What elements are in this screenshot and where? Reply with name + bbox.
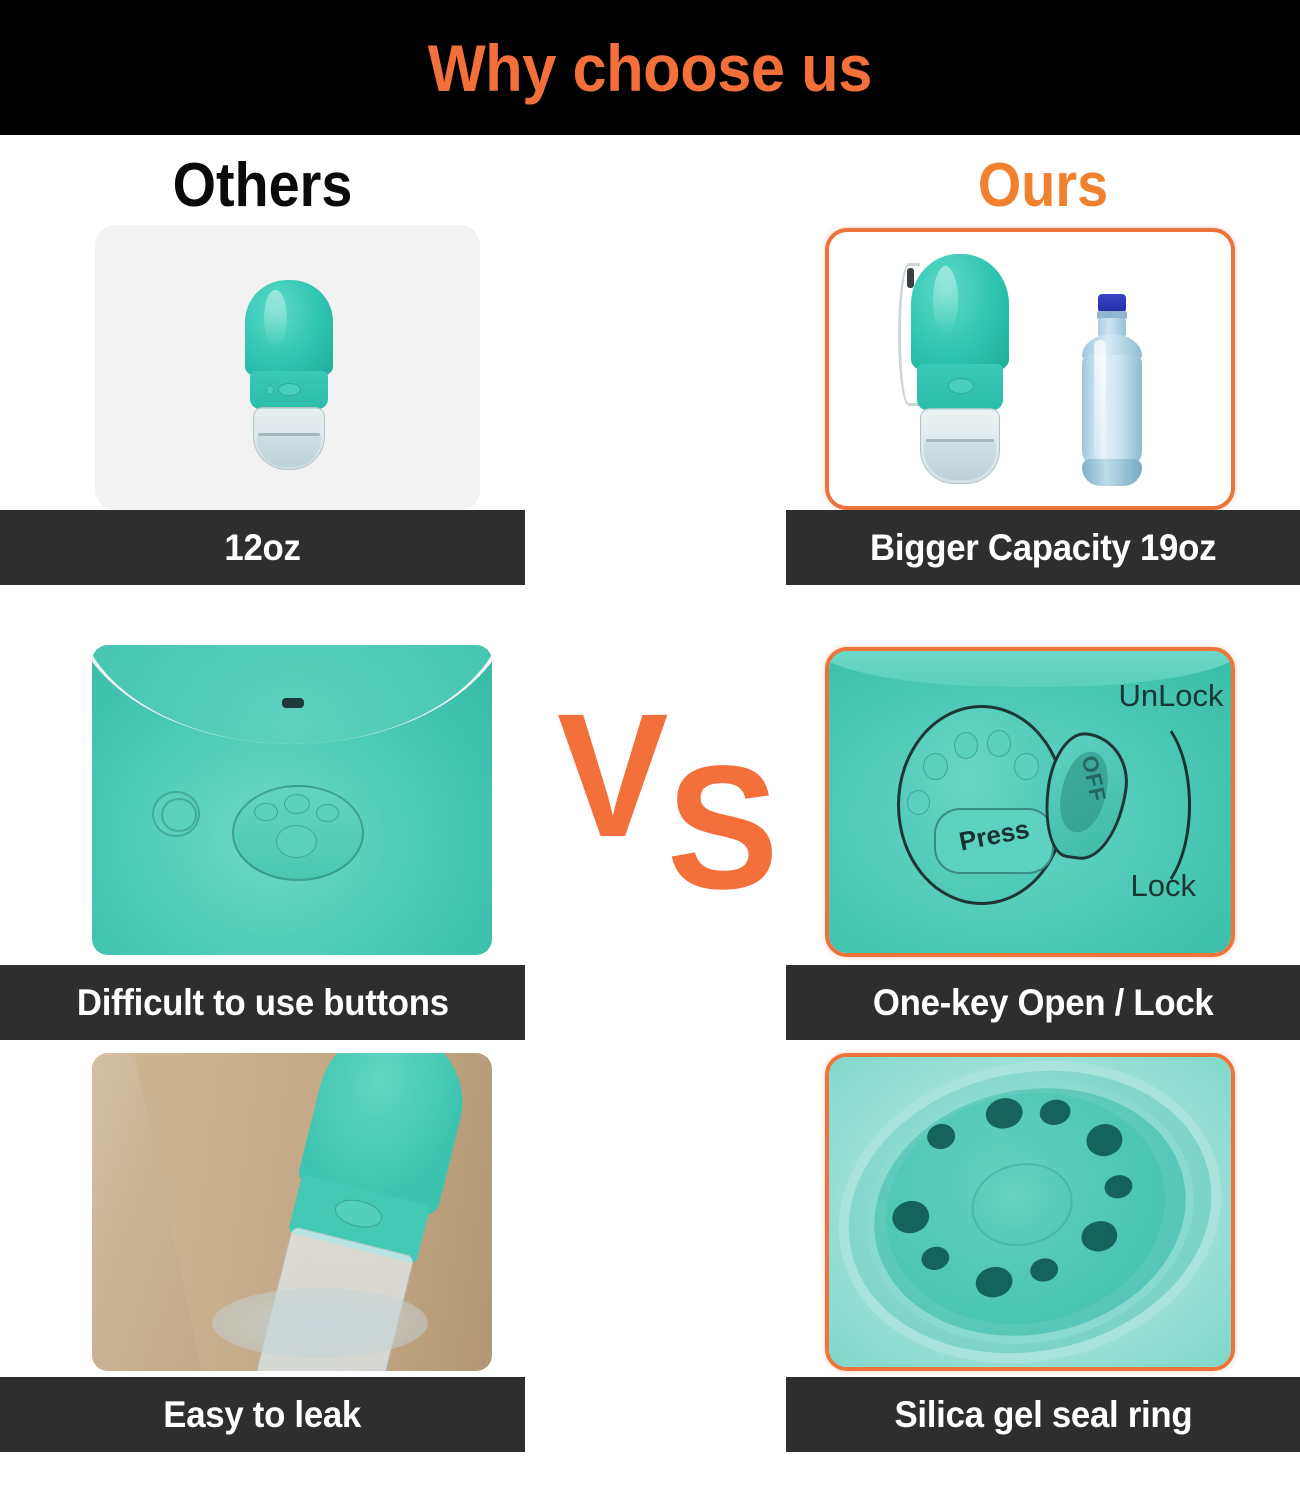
bottle-cap (911, 254, 1009, 374)
pet-bottle-illustration (911, 254, 1009, 484)
cell-ours-row2: Press OFF UnLock Lock One-key Open / Loc… (786, 635, 1300, 1033)
caption-text: Silica gel seal ring (894, 1394, 1192, 1436)
bottle-water (257, 433, 322, 467)
image-ours-lock: Press OFF UnLock Lock (786, 635, 1300, 965)
caption-ours-row3: Silica gel seal ring (786, 1377, 1300, 1452)
reference-water-bottle (1074, 294, 1150, 486)
image-others-buttons (0, 635, 525, 965)
bottle-water (924, 439, 996, 480)
caption-others-row2: Difficult to use buttons (0, 965, 525, 1040)
bottle-tank (920, 408, 1000, 484)
caption-others-row3: Easy to leak (0, 1377, 525, 1452)
paw-toe (987, 730, 1011, 757)
caption-text: Easy to leak (164, 1394, 362, 1436)
seal-hole (1078, 1218, 1120, 1255)
caption-ours-row1: Bigger Capacity 19oz (786, 510, 1300, 585)
seal-hole (920, 1244, 952, 1272)
seal-ring-center (964, 1154, 1080, 1256)
vent-slot (282, 698, 304, 709)
column-title-others: Others (26, 150, 499, 222)
seal-hole (973, 1264, 1015, 1301)
water-bottle-body (1082, 355, 1143, 466)
paw-toe (254, 803, 277, 821)
bottle-button-oval (948, 378, 973, 394)
water-bottle-cap (1098, 294, 1127, 311)
paw-print-button (232, 785, 364, 881)
teal-button-closeup (92, 645, 492, 955)
seal-hole (983, 1095, 1025, 1132)
seal-ring-card (825, 1053, 1235, 1371)
unlock-label: UnLock (1118, 678, 1223, 714)
paw-toe (316, 804, 339, 822)
image-others-leak (0, 1045, 525, 1377)
bottle-waterline (258, 433, 320, 436)
bottle-button-oval (278, 383, 301, 396)
paw-toe (1014, 753, 1038, 780)
seal-hole (1103, 1173, 1135, 1201)
leaking-bottle-card (92, 1053, 492, 1371)
caption-text: One-key Open / Lock (873, 982, 1214, 1024)
bottle-waterline (926, 439, 995, 442)
lock-label: Lock (1131, 868, 1196, 904)
seal-hole (1038, 1097, 1074, 1128)
bottle-button-dot (266, 385, 274, 395)
image-others-capacity (0, 225, 525, 510)
cell-others-row3: Easy to leak (0, 1045, 525, 1452)
bottle-tank (253, 407, 325, 470)
versus-letter-v: V (557, 688, 669, 864)
strap-clip (907, 268, 914, 289)
seal-hole (1029, 1256, 1061, 1284)
header-banner: Why choose us (0, 0, 1300, 135)
button-closeup-card (92, 645, 492, 955)
caption-text: Difficult to use buttons (77, 982, 449, 1024)
leaking-bottle-photo (92, 1053, 492, 1371)
lock-closeup-card: Press OFF UnLock Lock (825, 647, 1235, 957)
product-card-highlighted (825, 228, 1235, 510)
image-ours-seal-ring (786, 1045, 1300, 1377)
paw-toe (923, 753, 947, 780)
cell-ours-row1: Bigger Capacity 19oz (786, 225, 1300, 560)
image-ours-capacity (786, 225, 1300, 510)
secondary-button (152, 791, 200, 838)
pet-bottle-illustration (245, 280, 333, 470)
paw-toe (954, 732, 978, 759)
bottle-bowl (92, 645, 492, 744)
comparison-infographic: Why choose us Others Ours (0, 0, 1300, 1493)
cell-others-row2: Difficult to use buttons (0, 635, 525, 1033)
caption-text: Bigger Capacity 19oz (870, 527, 1216, 569)
paw-toe (907, 790, 930, 815)
paw-toe (284, 794, 310, 814)
press-disc (897, 705, 1066, 904)
bottle-cap (245, 280, 333, 379)
column-title-ours: Ours (812, 150, 1275, 222)
cell-others-row1: 12oz (0, 225, 525, 560)
water-bottle-highlight (1094, 340, 1106, 459)
seal-hole (890, 1197, 932, 1236)
caption-ours-row2: One-key Open / Lock (786, 965, 1300, 1040)
seal-hole (1084, 1121, 1126, 1160)
paw-main-pad (276, 825, 317, 858)
caption-text: 12oz (224, 527, 300, 569)
silica-seal-ring-photo (829, 1057, 1231, 1367)
versus-badge: V S (548, 688, 763, 878)
water-leak-puddle (212, 1288, 428, 1358)
one-key-lock-closeup: Press OFF UnLock Lock (829, 651, 1231, 953)
product-card-plain (95, 225, 480, 510)
caption-others-row1: 12oz (0, 510, 525, 585)
cell-ours-row3: Silica gel seal ring (786, 1045, 1300, 1452)
versus-letter-s: S (667, 740, 779, 916)
water-bottle-base (1082, 459, 1141, 486)
page-title: Why choose us (428, 35, 872, 101)
